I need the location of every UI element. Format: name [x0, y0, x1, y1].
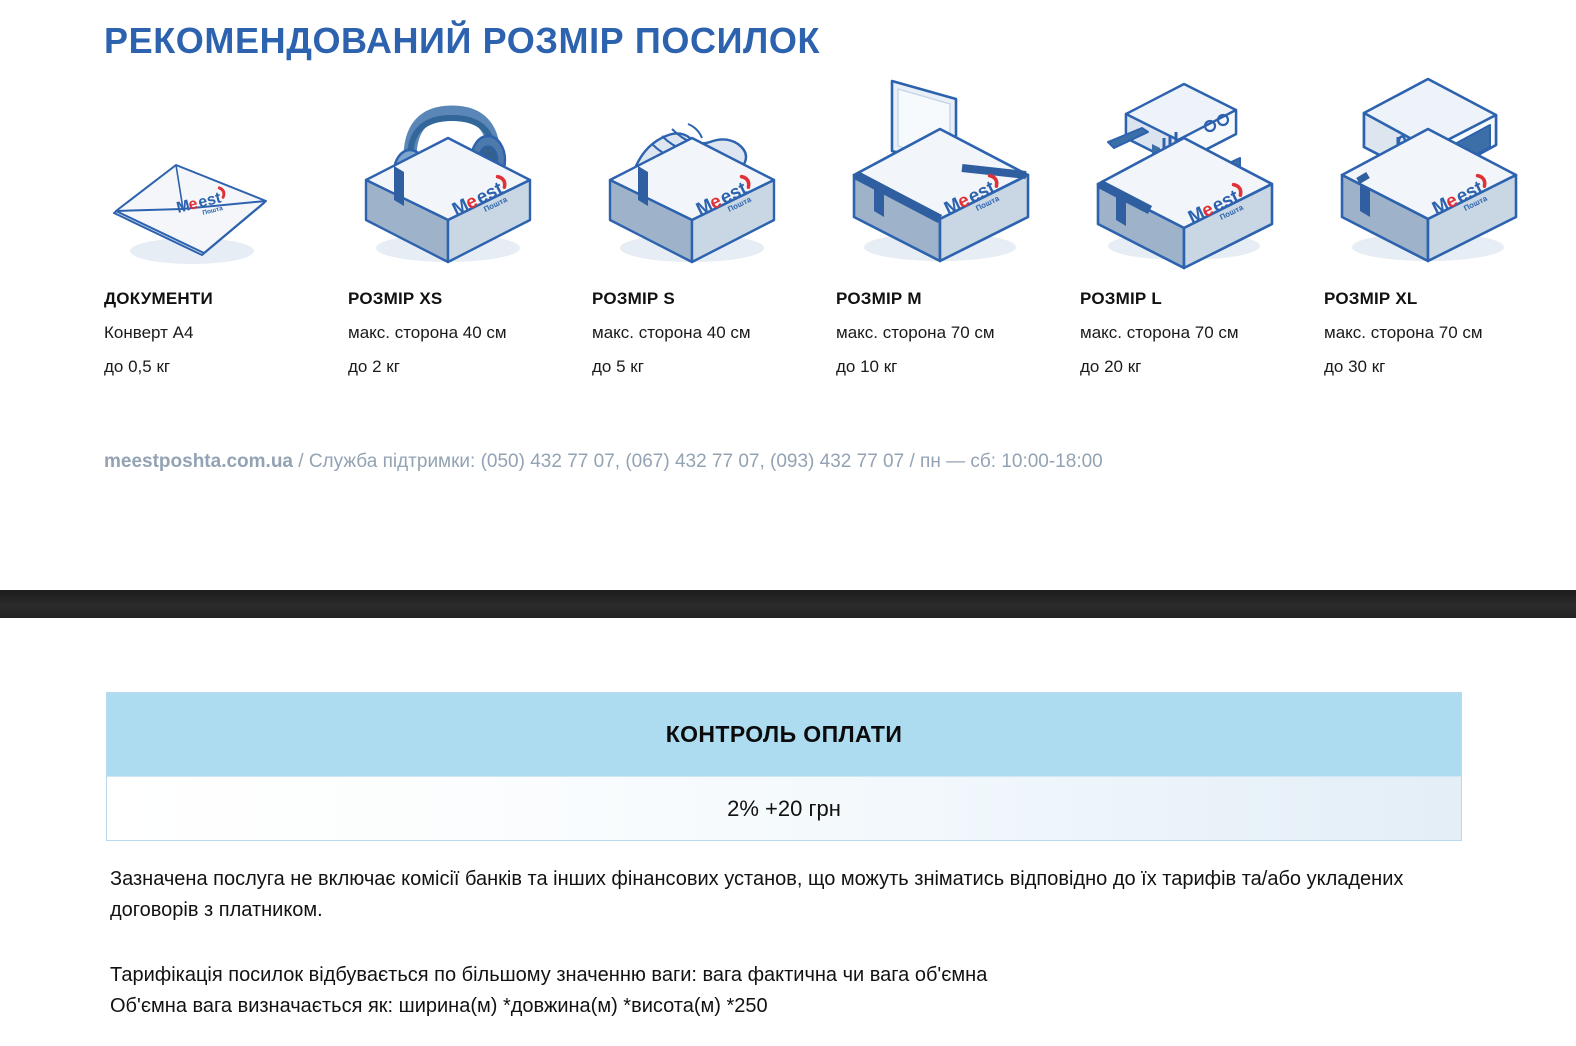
note-bank-commission: Зазначена послуга не включає комісії бан…	[110, 864, 1480, 926]
box-with-sneaker-icon: M e est Пошта	[592, 96, 792, 271]
note-text: Зазначена послуга не включає комісії бан…	[110, 864, 1480, 926]
size-dimension: макс. сторона 40 см	[348, 323, 592, 343]
note-volumetric-weight: Тарифікація посилок відбувається по біль…	[110, 960, 1480, 1022]
section-divider-band	[0, 590, 1576, 618]
payment-table-header: КОНТРОЛЬ ОПЛАТИ	[666, 721, 903, 748]
box-monitor-illustration: M e est Пошта	[836, 66, 1080, 271]
box-coffee-machine-illustration: M e est Пошта	[1080, 66, 1324, 271]
size-card-m: M e est Пошта РОЗМІР M макс. сторона 70 …	[836, 66, 1080, 377]
payment-table-value: 2% +20 грн	[727, 796, 841, 822]
support-info: / Служба підтримки: (050) 432 77 07, (06…	[293, 451, 1103, 472]
size-weight: до 2 кг	[348, 357, 592, 377]
payment-table-header-row: КОНТРОЛЬ ОПЛАТИ	[107, 692, 1461, 776]
size-cards-row: M e est Пошта ДОКУМЕНТИ Конверт А4 до 0,…	[104, 66, 1484, 377]
size-card-xs: M e est Пошта РОЗМІР XS макс. сторона 40…	[348, 66, 592, 377]
size-dimension: макс. сторона 70 см	[836, 323, 1080, 343]
website-link[interactable]: meestposhta.com.ua	[104, 451, 293, 472]
size-title: РОЗМІР XS	[348, 289, 592, 309]
box-with-monitor-icon: M e est Пошта	[836, 71, 1046, 271]
size-card-xl: M e est Пошта РОЗМІР XL макс. сторона 70…	[1324, 66, 1568, 377]
payment-table-body-row: 2% +20 грн	[107, 776, 1461, 840]
size-title: РОЗМІР XL	[1324, 289, 1568, 309]
size-weight: до 10 кг	[836, 357, 1080, 377]
size-weight: до 5 кг	[592, 357, 836, 377]
size-dimension: макс. сторона 40 см	[592, 323, 836, 343]
box-microwave-illustration: M e est Пошта	[1324, 66, 1568, 271]
size-card-l: M e est Пошта РОЗМІР L макс. сторона 70 …	[1080, 66, 1324, 377]
envelope-icon: M e est Пошта	[104, 151, 274, 271]
size-title: РОЗМІР M	[836, 289, 1080, 309]
box-headphones-illustration: M e est Пошта	[348, 66, 592, 271]
box-with-headphones-icon: M e est Пошта	[348, 96, 548, 271]
size-card-s: M e est Пошта РОЗМІР S макс. сторона 40 …	[592, 66, 836, 377]
note-text-line-1: Тарифікація посилок відбувається по біль…	[110, 960, 1480, 991]
box-with-microwave-icon: M e est Пошта	[1324, 71, 1534, 271]
size-weight: до 0,5 кг	[104, 357, 348, 377]
size-dimension: макс. сторона 70 см	[1080, 323, 1324, 343]
size-weight: до 20 кг	[1080, 357, 1324, 377]
box-sneaker-illustration: M e est Пошта	[592, 66, 836, 271]
note-text-line-2: Об'ємна вага визначається як: ширина(м) …	[110, 991, 1480, 1022]
size-card-documents: M e est Пошта ДОКУМЕНТИ Конверт А4 до 0,…	[104, 66, 348, 377]
envelope-illustration: M e est Пошта	[104, 66, 348, 271]
size-title: РОЗМІР S	[592, 289, 836, 309]
size-dimension: Конверт А4	[104, 323, 348, 343]
page-root: РЕКОМЕНДОВАНИЙ РОЗМІР ПОСИЛОК M e est	[0, 0, 1576, 1046]
size-title: РОЗМІР L	[1080, 289, 1324, 309]
page-title: РЕКОМЕНДОВАНИЙ РОЗМІР ПОСИЛОК	[104, 20, 820, 62]
contact-line: meestposhta.com.ua / Служба підтримки: (…	[104, 451, 1103, 473]
size-dimension: макс. сторона 70 см	[1324, 323, 1568, 343]
size-title: ДОКУМЕНТИ	[104, 289, 348, 309]
payment-control-table: КОНТРОЛЬ ОПЛАТИ 2% +20 грн	[106, 692, 1462, 841]
size-weight: до 30 кг	[1324, 357, 1568, 377]
box-with-coffee-machine-icon: M e est Пошта	[1080, 66, 1290, 271]
